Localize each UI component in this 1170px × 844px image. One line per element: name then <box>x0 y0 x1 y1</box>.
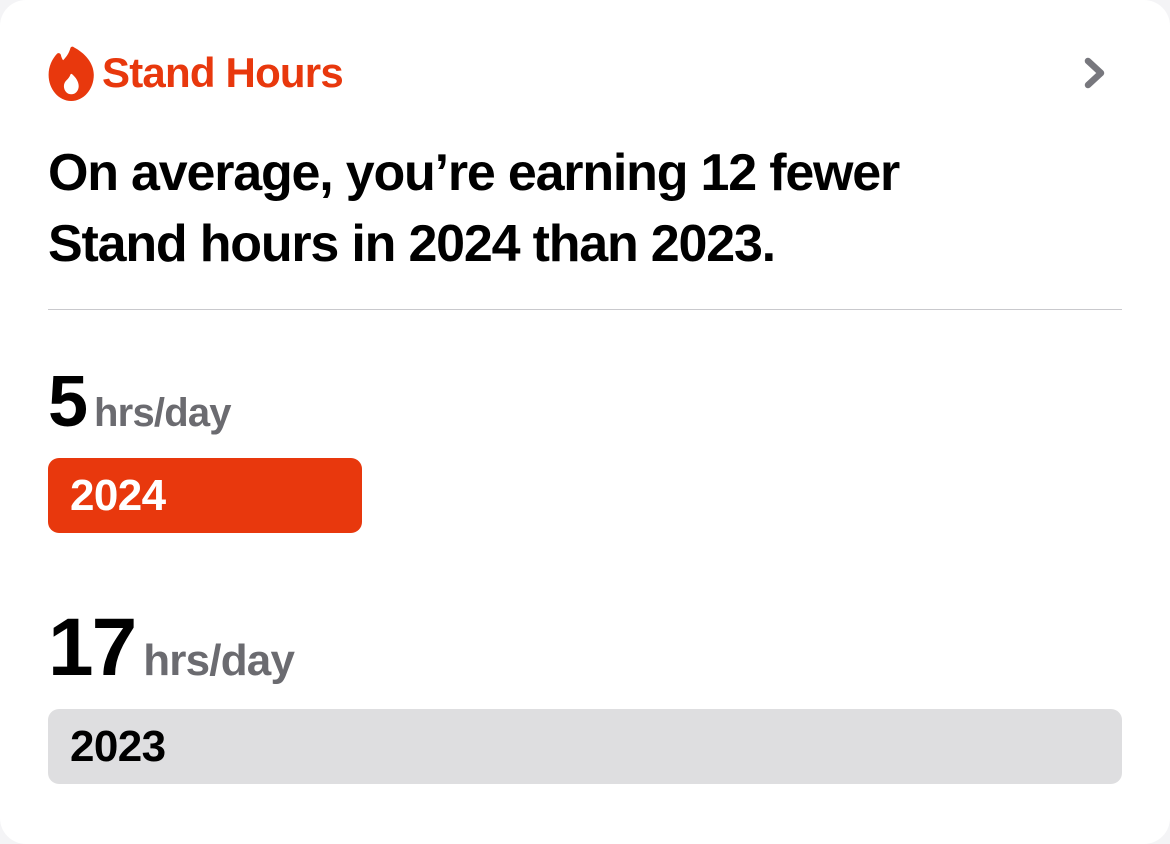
stat-number-2024: 5 <box>48 366 86 438</box>
bar-label-2023: 2023 <box>70 725 165 769</box>
card-header[interactable]: Stand Hours <box>48 40 1122 106</box>
stat-unit-2024: hrs/day <box>94 393 231 433</box>
card-title: Stand Hours <box>102 52 343 94</box>
stat-block-2023: 17 hrs/day 2023 <box>48 607 1122 784</box>
bar-label-2024: 2024 <box>70 474 165 518</box>
card-header-left: Stand Hours <box>48 44 343 102</box>
headline-text: On average, you’re earning 12 fewer Stan… <box>48 138 1048 280</box>
bar-2023: 2023 <box>48 709 1122 784</box>
section-divider <box>48 309 1122 310</box>
flame-icon <box>48 46 94 102</box>
chevron-right-icon[interactable] <box>1072 45 1118 101</box>
bar-2024: 2024 <box>48 458 362 533</box>
stat-value-row-2024: 5 hrs/day <box>48 366 362 438</box>
stat-unit-2023: hrs/day <box>143 639 294 683</box>
stat-number-2023: 17 <box>48 607 135 689</box>
stat-block-2024: 5 hrs/day 2024 <box>48 366 362 533</box>
stat-value-row-2023: 17 hrs/day <box>48 607 1122 689</box>
stand-hours-card[interactable]: Stand Hours On average, you’re earning 1… <box>0 0 1170 844</box>
